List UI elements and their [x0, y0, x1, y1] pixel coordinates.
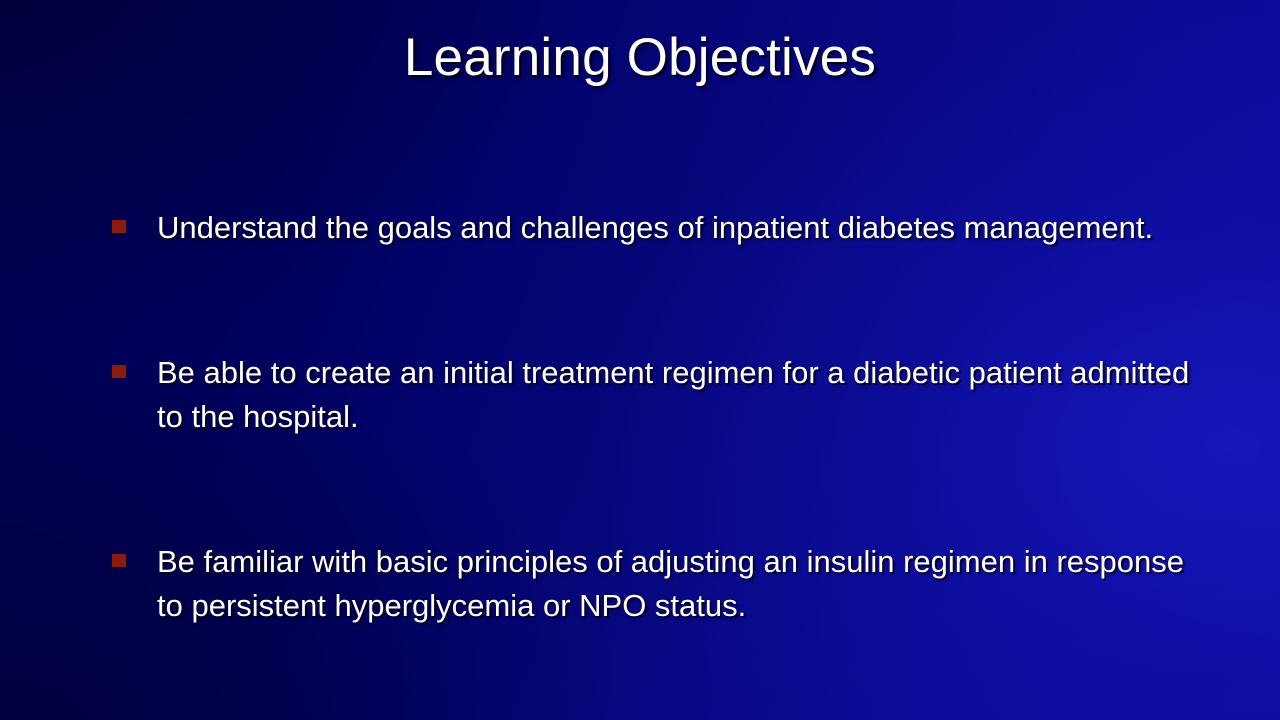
square-bullet-icon [112, 365, 126, 378]
list-item: Be familiar with basic principles of adj… [108, 540, 1198, 628]
list-item: Be able to create an initial treatment r… [108, 351, 1198, 439]
square-bullet-icon [112, 220, 126, 233]
list-item-label: Understand the goals and challenges of i… [157, 206, 1198, 250]
learning-objectives-list: Understand the goals and challenges of i… [108, 206, 1198, 628]
list-item: Understand the goals and challenges of i… [108, 206, 1198, 250]
list-item-label: Be familiar with basic principles of adj… [157, 540, 1198, 628]
slide-content: Learning Objectives Understand the goals… [0, 0, 1280, 720]
list-item-label: Be able to create an initial treatment r… [157, 351, 1198, 439]
slide-title: Learning Objectives [0, 31, 1280, 84]
square-bullet-icon [112, 554, 126, 567]
presentation-slide: Learning Objectives Understand the goals… [0, 0, 1280, 720]
